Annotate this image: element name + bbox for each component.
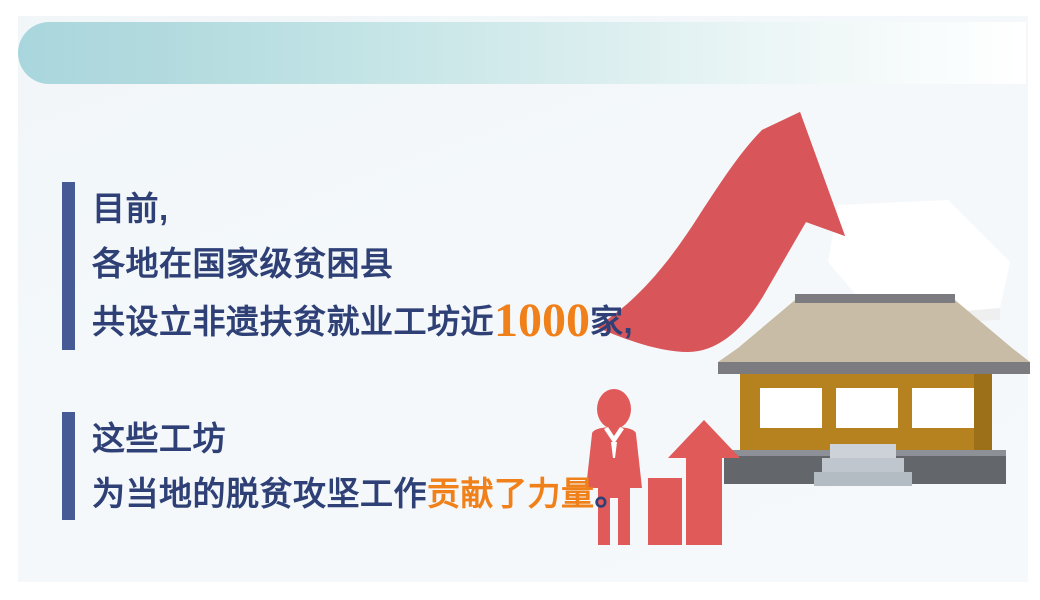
text-block-1: 目前, 各地在国家级贫困县 共设立非遗扶贫就业工坊近1000家, [62, 182, 633, 350]
text-line-3-suffix: 家, [590, 303, 633, 340]
text-line-5-suffix: 。 [595, 475, 629, 512]
text-line-5-prefix: 为当地的脱贫攻坚工作 [92, 475, 427, 512]
top-decorative-banner [18, 22, 1026, 84]
text-block-2: 这些工坊 为当地的脱贫攻坚工作贡献了力量。 [62, 412, 628, 520]
accent-bar-1 [62, 182, 75, 350]
statistic-number: 1000 [494, 294, 590, 347]
infographic-poster: 目前, 各地在国家级贫困县 共设立非遗扶贫就业工坊近1000家, 这些工坊 为当… [0, 0, 1040, 600]
text-line-2: 各地在国家级贫困县 [92, 247, 633, 280]
text-line-3: 共设立非遗扶贫就业工坊近1000家, [92, 302, 633, 340]
text-line-3-prefix: 共设立非遗扶贫就业工坊近 [92, 303, 494, 340]
accent-bar-2 [62, 412, 75, 520]
text-line-4: 这些工坊 [92, 422, 628, 455]
text-line-1: 目前, [92, 192, 633, 225]
text-line-5: 为当地的脱贫攻坚工作贡献了力量。 [92, 477, 628, 510]
highlight-phrase: 贡献了力量 [427, 475, 595, 512]
